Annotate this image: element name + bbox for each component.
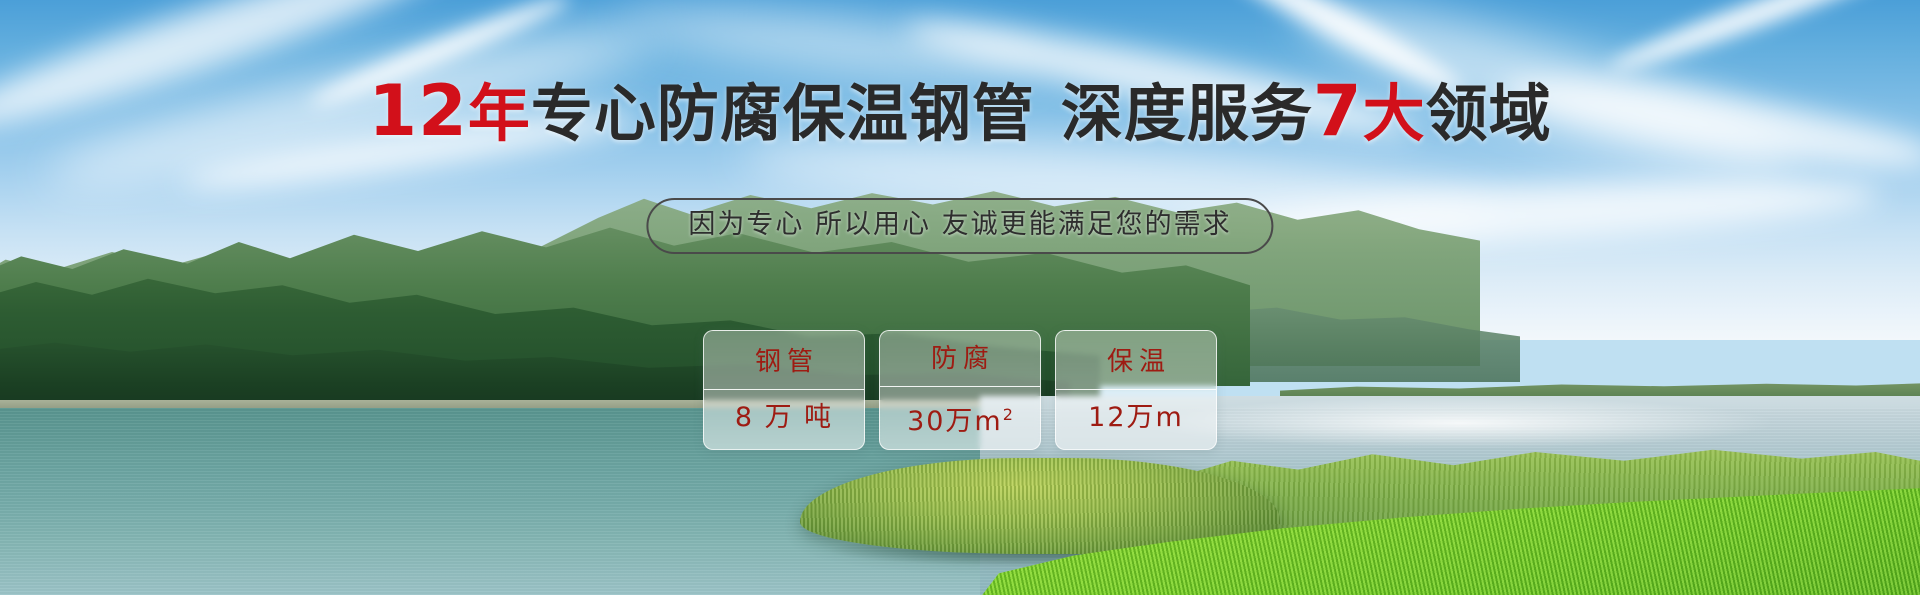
- stat-card-title: 保温: [1101, 347, 1171, 377]
- headline-years-unit: 年: [468, 77, 531, 150]
- headline-years-number: 12: [368, 70, 467, 152]
- stat-card-group: 钢管 8 万 吨 防腐 30万m2 保温 12万m: [703, 330, 1217, 450]
- stat-card-value-superscript: 2: [1003, 405, 1013, 424]
- headline-fields-unit: 大: [1363, 77, 1426, 150]
- stat-card-divider: [880, 386, 1040, 387]
- banner-headline: 12年专心防腐保温钢管深度服务7大领域: [0, 78, 1920, 147]
- stat-card-value: 30万m2: [907, 399, 1013, 437]
- stat-card-divider: [704, 389, 864, 390]
- promo-banner: 12年专心防腐保温钢管深度服务7大领域 因为专心 所以用心 友诚更能满足您的需求…: [0, 0, 1920, 595]
- stat-card-divider: [1056, 389, 1216, 390]
- stat-card-insulation: 保温 12万m: [1055, 330, 1217, 450]
- headline-segment-1: 专心防腐保温钢管: [531, 77, 1035, 150]
- headline-segment-2: 深度服务: [1061, 77, 1313, 150]
- stat-card-value-main: 12万m: [1088, 402, 1184, 433]
- banner-subtitle-pill: 因为专心 所以用心 友诚更能满足您的需求: [646, 198, 1273, 254]
- stat-card-title: 钢管: [749, 347, 819, 377]
- headline-fields-number: 7: [1313, 70, 1363, 152]
- stat-card-value-main: 30万m: [907, 406, 1003, 437]
- headline-segment-3: 领域: [1426, 77, 1552, 150]
- stat-card-title: 防腐: [925, 344, 995, 374]
- banner-content: 12年专心防腐保温钢管深度服务7大领域 因为专心 所以用心 友诚更能满足您的需求…: [0, 0, 1920, 595]
- stat-card-anticorrosion: 防腐 30万m2: [879, 330, 1041, 450]
- stat-card-value: 12万m: [1088, 402, 1184, 433]
- stat-card-steel-pipe: 钢管 8 万 吨: [703, 330, 865, 450]
- stat-card-value: 8 万 吨: [735, 402, 833, 433]
- stat-card-value-main: 8 万 吨: [735, 402, 833, 433]
